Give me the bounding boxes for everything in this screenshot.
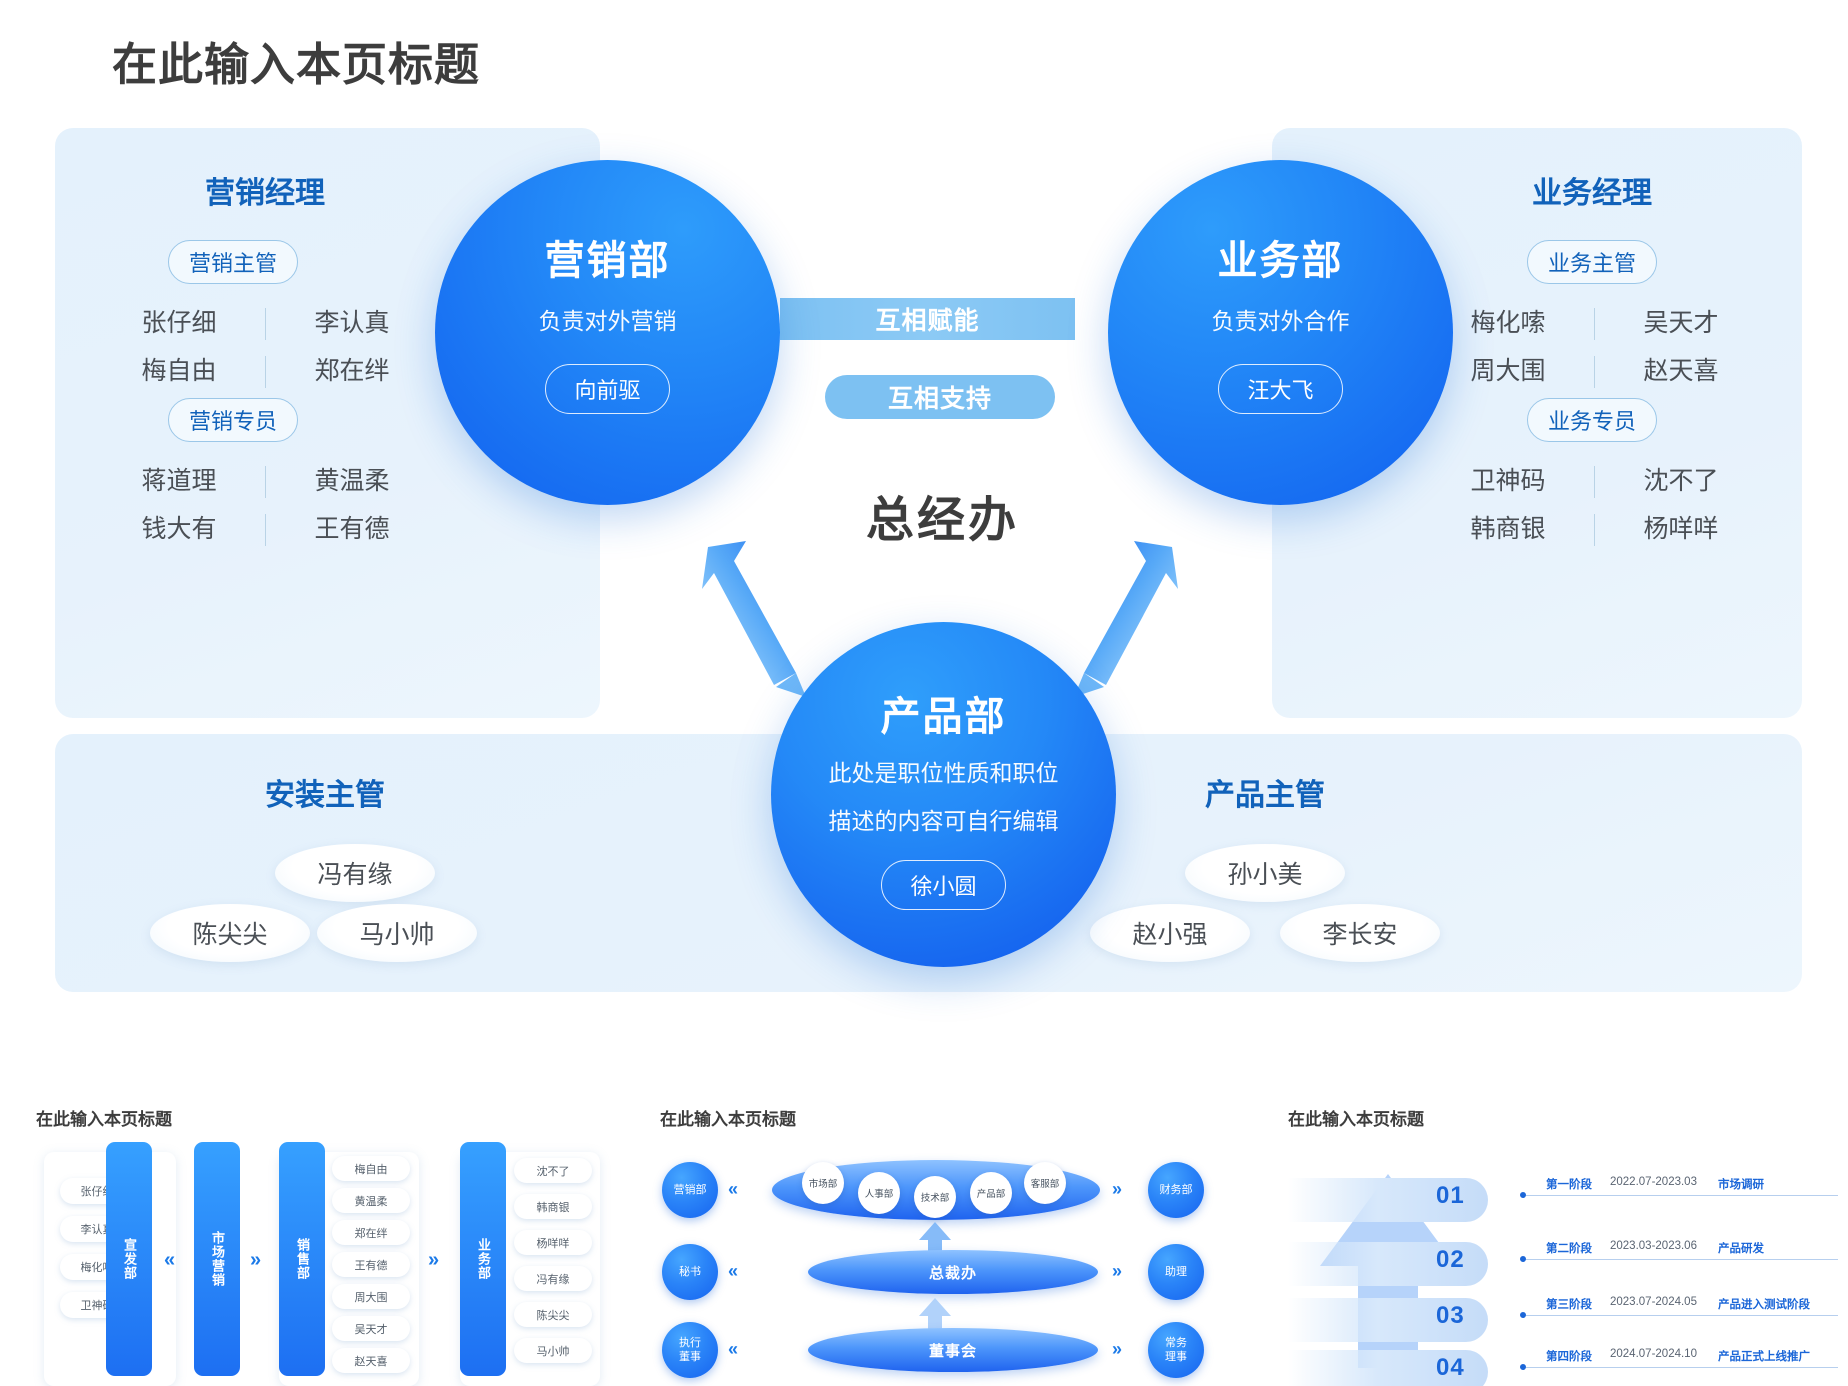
circle-description-line1: 此处是职位性质和职位 xyxy=(829,756,1059,790)
name-cell: 钱大有 xyxy=(93,506,265,554)
circle-product-department[interactable]: 产品部 此处是职位性质和职位 描述的内容可自行编辑 徐小圆 xyxy=(771,622,1116,967)
circle-description: 负责对外营销 xyxy=(539,304,677,338)
chip-name[interactable]: 王有德 xyxy=(332,1252,410,1277)
bar-publicity-dept[interactable]: 宣发部 xyxy=(106,1142,152,1376)
bar-label: 宣发部 xyxy=(120,1238,138,1280)
thumb1-title: 在此输入本页标题 xyxy=(36,1105,172,1130)
name-bubble[interactable]: 马小帅 xyxy=(317,904,477,962)
chip-name[interactable]: 吴天才 xyxy=(332,1316,410,1341)
circle-assistant-small[interactable]: 助理 xyxy=(1148,1244,1204,1300)
node-department[interactable]: 市场部 xyxy=(802,1162,844,1204)
circle-standing-director-small[interactable]: 常务 理事 xyxy=(1148,1322,1204,1378)
timeline-number: 01 xyxy=(1436,1182,1465,1210)
chip-name[interactable]: 周大围 xyxy=(332,1284,410,1309)
timeline-rule xyxy=(1526,1195,1838,1196)
name-grid-marketing-specialist: 蒋道理 黄温柔 钱大有 王有德 xyxy=(93,458,438,554)
bar-label: 业务部 xyxy=(474,1238,492,1280)
slide-canvas: 在此输入本页标题 营销经理 营销主管 张仔细 李认真 梅自由 郑在绊 营销专员 … xyxy=(0,0,1848,1386)
chip-name[interactable]: 赵天喜 xyxy=(332,1348,410,1373)
node-department[interactable]: 产品部 xyxy=(970,1172,1012,1214)
timeline-phase: 第四阶段 xyxy=(1546,1348,1592,1364)
group-label-marketing-specialist[interactable]: 营销专员 xyxy=(168,398,298,442)
ellipse-president-office[interactable]: 总裁办 xyxy=(808,1250,1098,1294)
chevron-right-icon: » xyxy=(1112,1262,1122,1280)
bar-business-dept[interactable]: 业务部 xyxy=(460,1142,506,1376)
pill-mutual-support[interactable]: 互相支持 xyxy=(825,375,1055,419)
chevron-right-icon: » xyxy=(1112,1340,1122,1358)
name-cell: 杨咩咩 xyxy=(1595,506,1767,554)
chip-name[interactable]: 冯有缘 xyxy=(514,1266,592,1291)
bar-market-marketing[interactable]: 市场营销 xyxy=(194,1142,240,1376)
circle-owner-pill[interactable]: 汪大飞 xyxy=(1218,364,1342,414)
circle-secretary-small[interactable]: 秘书 xyxy=(662,1244,718,1300)
timeline-phase: 第三阶段 xyxy=(1546,1296,1592,1312)
chip-name[interactable]: 陈尖尖 xyxy=(514,1302,592,1327)
timeline-desc: 产品正式上线推广 xyxy=(1718,1348,1810,1364)
name-cell: 梅自由 xyxy=(93,348,265,396)
name-cell: 赵天喜 xyxy=(1595,348,1767,396)
timeline-date: 2023.07-2024.05 xyxy=(1610,1296,1697,1308)
chevron-right-icon: » xyxy=(428,1250,439,1270)
chevron-left-icon: « xyxy=(728,1262,738,1280)
circle-title: 营销部 xyxy=(545,228,671,286)
thumbnail-timeline[interactable]: 01 02 03 04 第一阶段 2022.07-2023.03 市场调研 第二… xyxy=(1288,1150,1848,1386)
timeline-desc: 产品研发 xyxy=(1718,1240,1764,1256)
chip-name[interactable]: 郑在绊 xyxy=(332,1220,410,1245)
group-label-business-specialist[interactable]: 业务专员 xyxy=(1527,398,1657,442)
circle-owner-pill[interactable]: 向前驱 xyxy=(545,364,669,414)
name-bubble[interactable]: 孙小美 xyxy=(1185,844,1345,902)
name-cell: 黄温柔 xyxy=(266,458,438,506)
name-bubble[interactable]: 陈尖尖 xyxy=(150,904,310,962)
timeline-date: 2022.07-2023.03 xyxy=(1610,1176,1697,1188)
timeline-phase: 第二阶段 xyxy=(1546,1240,1592,1256)
timeline-number: 02 xyxy=(1436,1246,1465,1274)
name-cell: 王有德 xyxy=(266,506,438,554)
circle-marketing-department[interactable]: 营销部 负责对外营销 向前驱 xyxy=(435,160,780,505)
circle-business-department[interactable]: 业务部 负责对外合作 汪大飞 xyxy=(1108,160,1453,505)
circle-owner-pill[interactable]: 徐小圆 xyxy=(881,860,1005,910)
timeline-desc: 市场调研 xyxy=(1718,1176,1764,1192)
timeline-rule xyxy=(1526,1315,1838,1316)
chip-name[interactable]: 黄温柔 xyxy=(332,1188,410,1213)
panel-heading-business: 业务经理 xyxy=(1382,168,1802,212)
name-cell: 韩商银 xyxy=(1422,506,1594,554)
name-cell: 蒋道理 xyxy=(93,458,265,506)
circle-finance-dept-small[interactable]: 财务部 xyxy=(1148,1162,1204,1218)
chevron-right-icon: » xyxy=(1112,1180,1122,1198)
name-cell: 卫神码 xyxy=(1422,458,1594,506)
name-grid-marketing-supervisor: 张仔细 李认真 梅自由 郑在绊 xyxy=(93,300,438,396)
chip-name[interactable]: 梅自由 xyxy=(332,1156,410,1181)
thumbnail-department-flow[interactable]: 张仔细 李认真 梅化嗦 卫神码 宣发部 « 市场营销 » 销售部 梅自由 黄温柔… xyxy=(36,1140,616,1386)
timeline-rule xyxy=(1526,1259,1838,1260)
circle-marketing-dept-small[interactable]: 营销部 xyxy=(662,1162,718,1218)
bar-label: 市场营销 xyxy=(208,1231,226,1287)
name-bubble[interactable]: 李长安 xyxy=(1280,904,1440,962)
name-cell: 李认真 xyxy=(266,300,438,348)
page-title: 在此输入本页标题 xyxy=(112,28,480,93)
timeline-rule xyxy=(1526,1367,1838,1368)
name-bubble[interactable]: 冯有缘 xyxy=(275,844,435,902)
timeline-number: 03 xyxy=(1436,1302,1465,1330)
org-chart-hero: 营销经理 营销主管 张仔细 李认真 梅自由 郑在绊 营销专员 蒋道理 黄温柔 钱… xyxy=(0,120,1848,1000)
thumb3-title: 在此输入本页标题 xyxy=(1288,1105,1424,1130)
ellipse-board-of-directors[interactable]: 董事会 xyxy=(808,1328,1098,1372)
band-mutual-enablement: 互相赋能 xyxy=(780,298,1075,340)
name-grid-business-specialist: 卫神码 沈不了 韩商银 杨咩咩 xyxy=(1422,458,1767,554)
bar-label: 销售部 xyxy=(293,1238,311,1280)
node-department[interactable]: 客服部 xyxy=(1024,1162,1066,1204)
circle-description: 负责对外合作 xyxy=(1212,304,1350,338)
node-department[interactable]: 人事部 xyxy=(858,1172,900,1214)
bar-sales-dept[interactable]: 销售部 xyxy=(279,1142,325,1376)
circle-description-line2: 描述的内容可自行编辑 xyxy=(829,804,1059,838)
name-cell: 沈不了 xyxy=(1595,458,1767,506)
chevron-left-icon: « xyxy=(728,1340,738,1358)
name-cell: 张仔细 xyxy=(93,300,265,348)
group-label-marketing-supervisor[interactable]: 营销主管 xyxy=(168,240,298,284)
circle-title: 业务部 xyxy=(1218,228,1344,286)
chip-name[interactable]: 马小帅 xyxy=(514,1338,592,1363)
chevron-left-icon: « xyxy=(728,1180,738,1198)
name-cell: 吴天才 xyxy=(1595,300,1767,348)
name-cell: 郑在绊 xyxy=(266,348,438,396)
panel-heading-product-supervisor: 产品主管 xyxy=(1145,770,1385,814)
chevron-left-icon: « xyxy=(164,1250,175,1270)
thumb2-title: 在此输入本页标题 xyxy=(660,1105,796,1130)
chip-name[interactable]: 沈不了 xyxy=(514,1158,592,1183)
panel-heading-install-supervisor: 安装主管 xyxy=(205,770,445,814)
circle-label: 执行 董事 xyxy=(679,1336,701,1364)
chip-name[interactable]: 韩商银 xyxy=(514,1194,592,1219)
timeline-number: 04 xyxy=(1436,1354,1465,1382)
node-department[interactable]: 技术部 xyxy=(914,1176,956,1218)
timeline-date: 2023.03-2023.06 xyxy=(1610,1240,1697,1252)
circle-label: 常务 理事 xyxy=(1165,1336,1187,1364)
thumbnail-hierarchy-rings[interactable]: 营销部 « 市场部 人事部 技术部 产品部 客服部 » 财务部 秘书 « 总裁办… xyxy=(660,1150,1230,1386)
chevron-right-icon: » xyxy=(250,1250,261,1270)
timeline-phase: 第一阶段 xyxy=(1546,1176,1592,1192)
timeline-desc: 产品进入测试阶段 xyxy=(1718,1296,1810,1312)
group-label-business-supervisor[interactable]: 业务主管 xyxy=(1527,240,1657,284)
panel-heading-marketing: 营销经理 xyxy=(55,168,475,212)
chip-name[interactable]: 杨咩咩 xyxy=(514,1230,592,1255)
timeline-date: 2024.07-2024.10 xyxy=(1610,1348,1697,1360)
circle-executive-director-small[interactable]: 执行 董事 xyxy=(662,1322,718,1378)
name-bubble[interactable]: 赵小强 xyxy=(1090,904,1250,962)
name-grid-business-supervisor: 梅化嗦 吴天才 周大围 赵天喜 xyxy=(1422,300,1767,396)
circle-title: 产品部 xyxy=(881,684,1007,742)
arrow-up-icon xyxy=(918,1298,952,1330)
